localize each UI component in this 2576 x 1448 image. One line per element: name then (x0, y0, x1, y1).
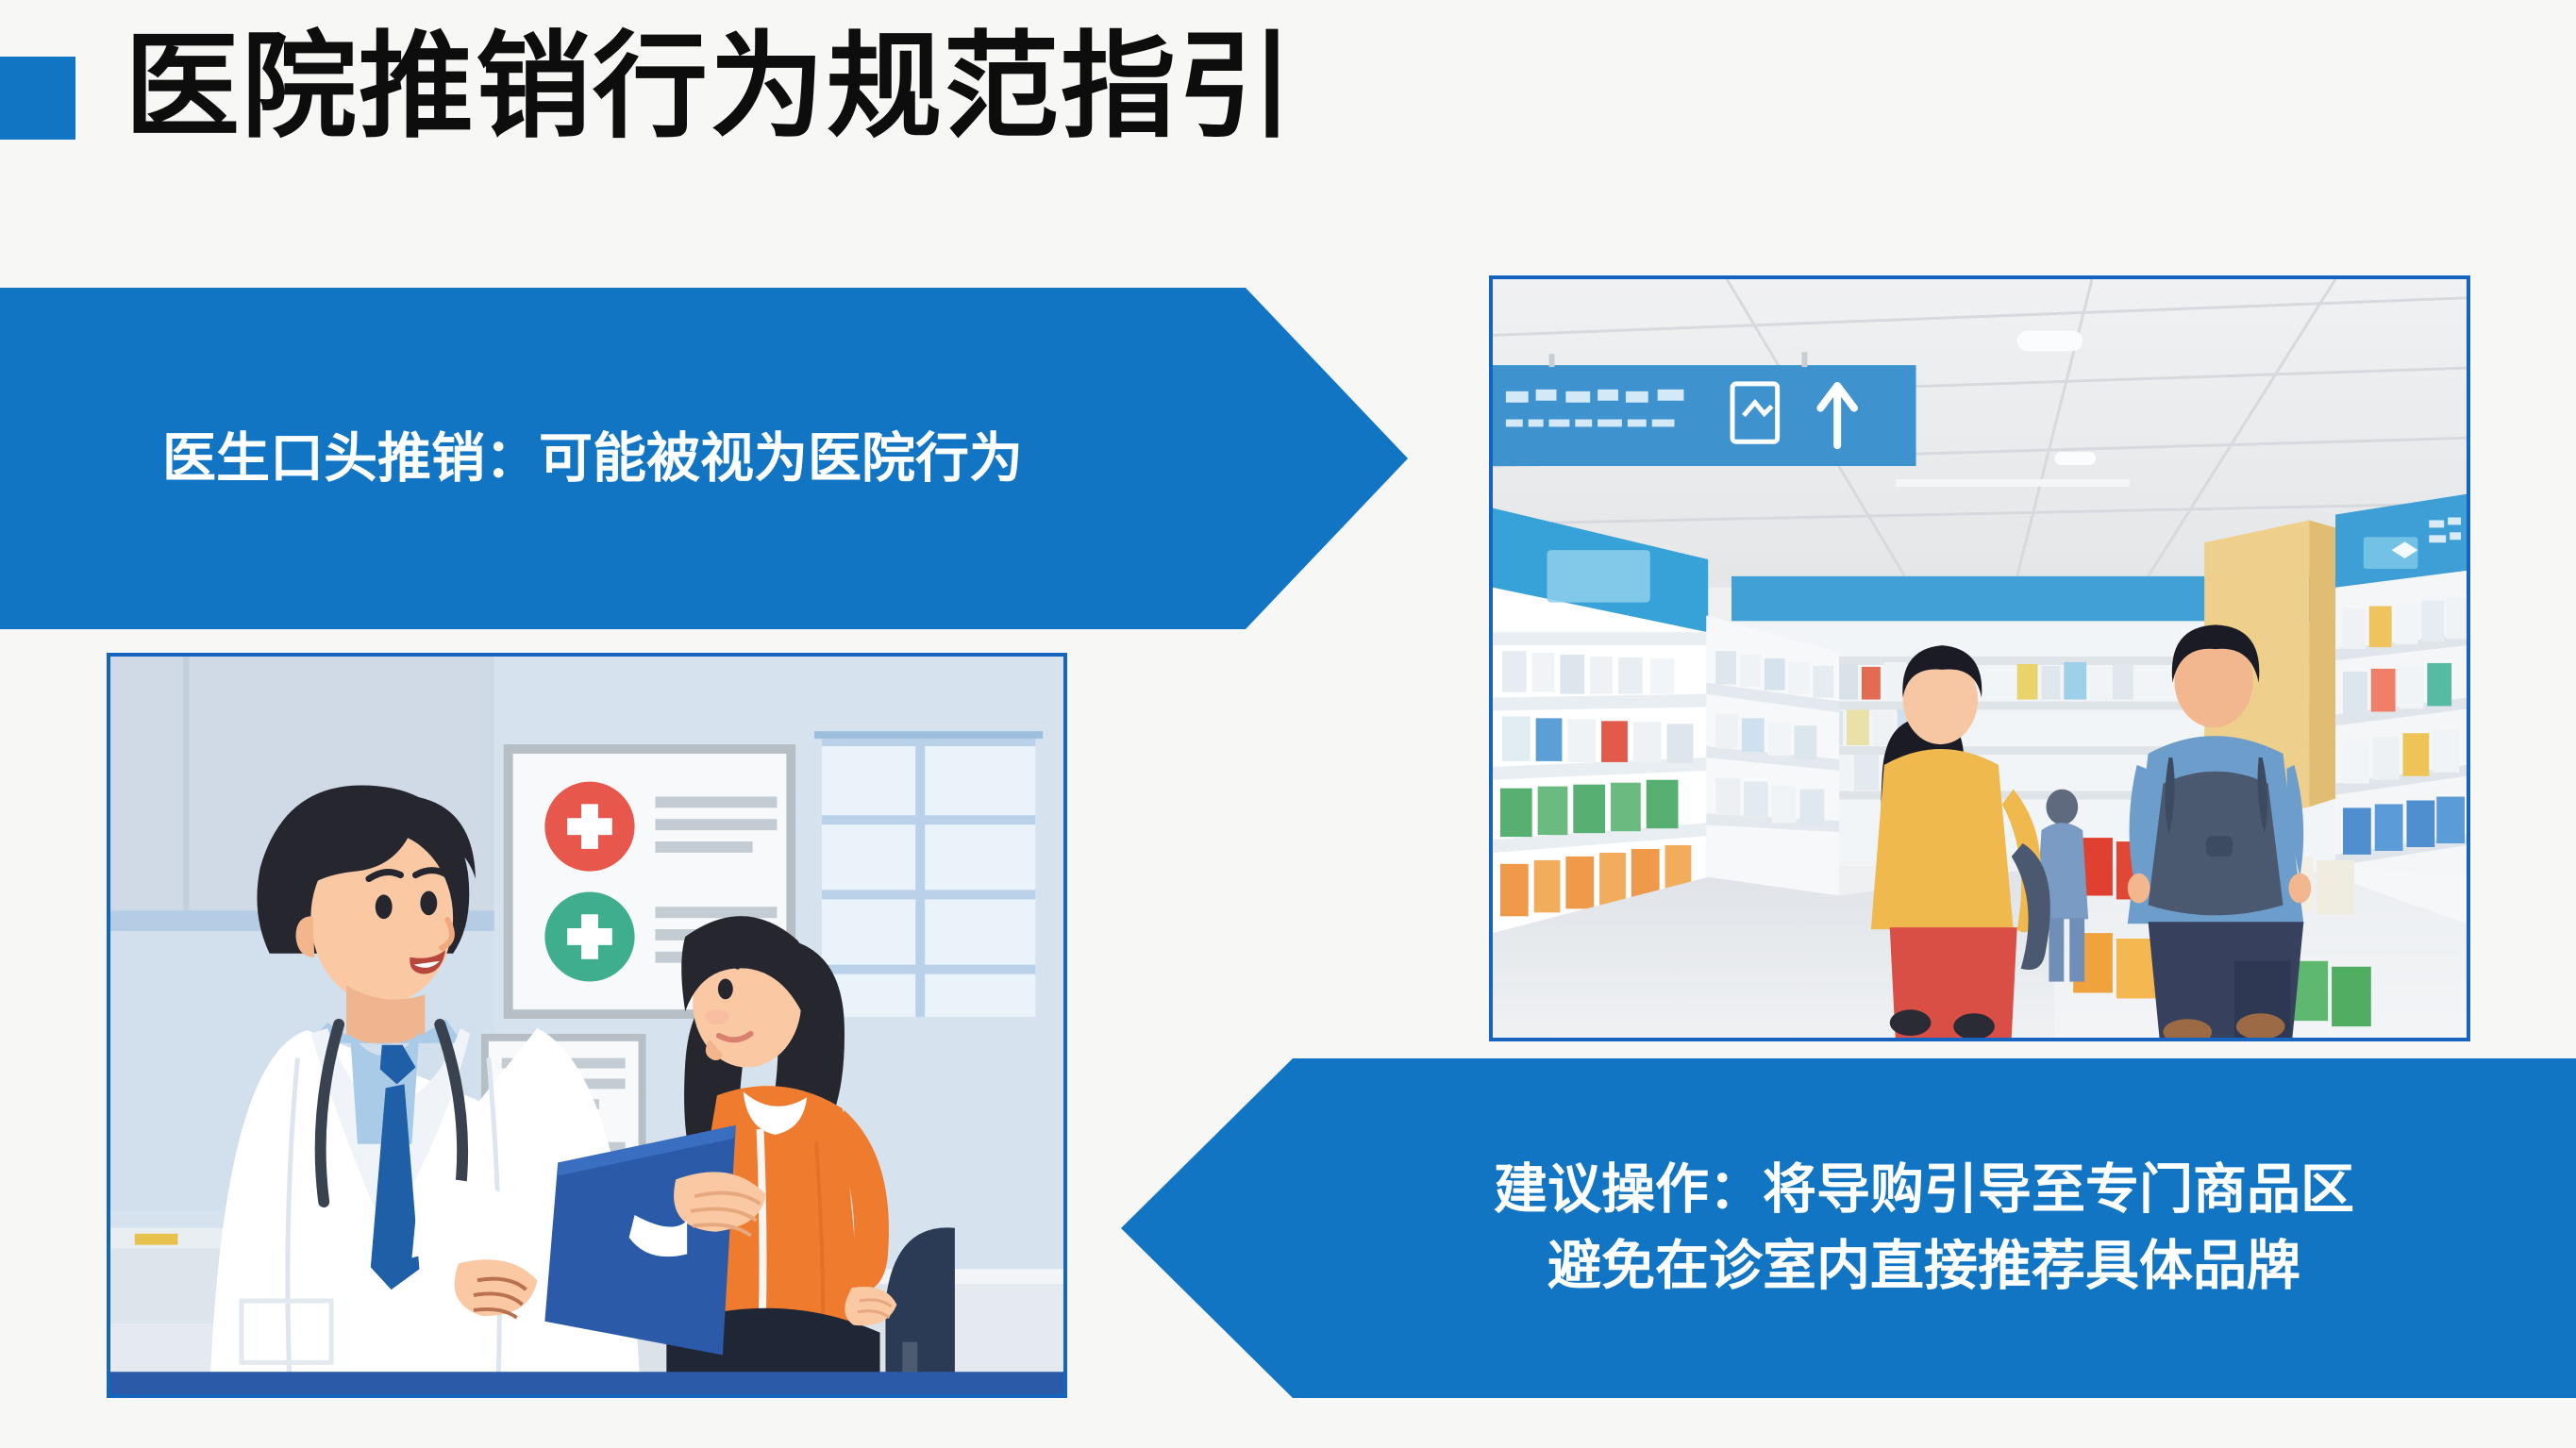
banner-top-text: 医生口头推销：可能被视为医院行为 (162, 423, 1023, 495)
pharmacy-aisle-illustration (1489, 275, 2470, 1041)
page-title: 医院推销行为规范指引 (125, 26, 1295, 147)
doctor-patient-consult-illustration (107, 653, 1067, 1398)
banner-recommended-practice: 建议操作：将导购引导至专门商品区 避免在诊室内直接推荐具体品牌 (1121, 1058, 2576, 1398)
banner-bottom-line1: 建议操作：将导购引导至专门商品区 (1310, 1152, 2538, 1228)
title-accent-bar (0, 57, 75, 140)
banner-doctor-verbal-promotion: 医生口头推销：可能被视为医院行为 (0, 288, 1408, 629)
banner-bottom-lines: 建议操作：将导购引导至专门商品区 避免在诊室内直接推荐具体品牌 (1310, 1152, 2576, 1305)
banner-bottom-line2: 避免在诊室内直接推荐具体品牌 (1310, 1228, 2538, 1305)
consult-scene-svg (110, 657, 1063, 1394)
pharmacy-scene-svg (1493, 279, 2467, 1038)
